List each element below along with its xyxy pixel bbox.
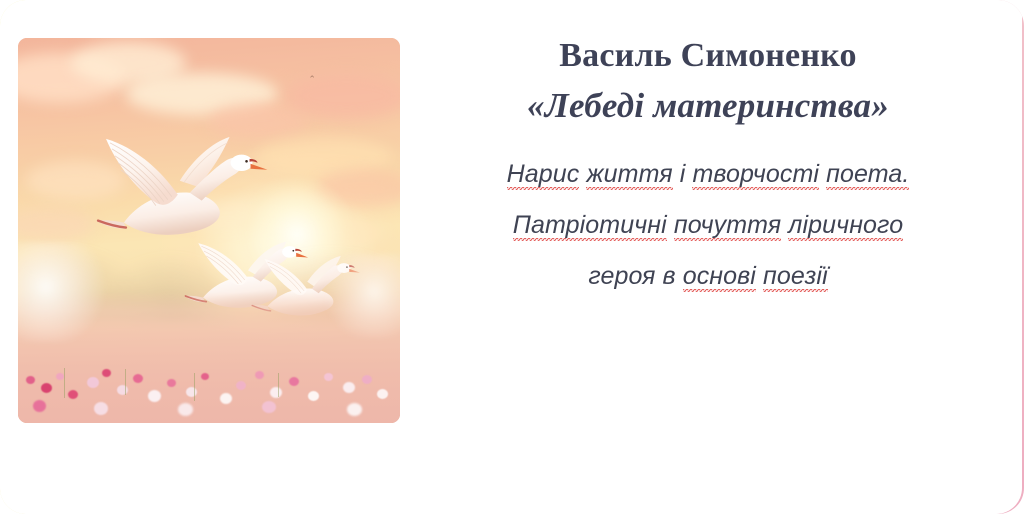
page-title-line-1: Василь Симоненко [424, 34, 992, 78]
distant-bird-icon: ⌃ [308, 75, 316, 84]
subtitle-word: в [662, 262, 675, 290]
page-title-line-2: «Лебеді материнства» [424, 83, 992, 129]
subtitle-word-misspelled: творчості [692, 160, 819, 191]
text-column: Василь Симоненко «Лебеді материнства» На… [424, 34, 992, 302]
cloud-shape [285, 73, 400, 119]
slide-content: ⌃ [0, 0, 1024, 514]
subtitle-word-misspelled: ліричного [788, 211, 903, 242]
white-blossom-bush [324, 254, 400, 339]
subtitle-word: і [680, 160, 686, 188]
subtitle-word-misspelled: Нарис [507, 160, 580, 191]
subtitle-block: Нарис життя і творчості поета. Патріотич… [424, 149, 992, 302]
subtitle-word-misspelled: поета. [826, 160, 909, 191]
subtitle-word: героя [588, 262, 655, 290]
subtitle-word-misspelled: основі [683, 262, 756, 293]
subtitle-word-misspelled: життя [586, 160, 672, 191]
subtitle-line: героя в основі поезії [424, 251, 992, 302]
slide: ⌃ [0, 0, 1024, 514]
subtitle-line: Нарис життя і творчості поета. [424, 149, 992, 200]
white-blossom-bush [18, 242, 110, 342]
swans-sunset-meadow-illustration: ⌃ [18, 38, 400, 423]
subtitle-word-misspelled: поезії [763, 262, 828, 293]
subtitle-word-misspelled: Патріотичні [513, 211, 667, 242]
subtitle-line: Патріотичні почуття ліричного [424, 200, 992, 251]
subtitle-word-misspelled: почуття [674, 211, 781, 242]
